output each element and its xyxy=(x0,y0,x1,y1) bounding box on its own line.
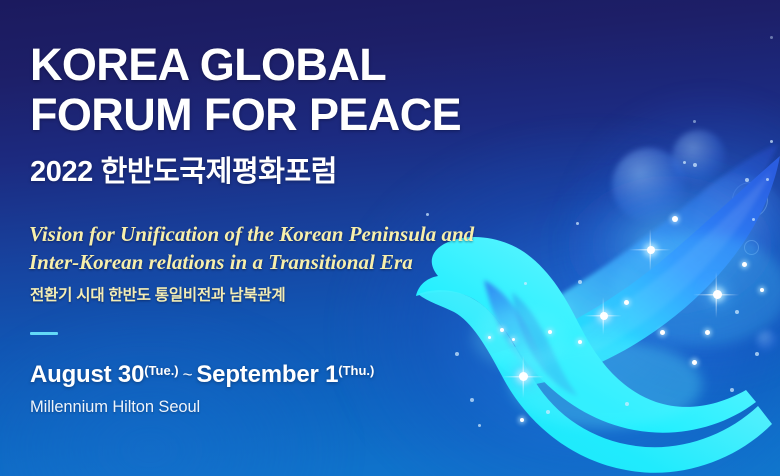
event-date: August 30(Tue.)~September 1(Thu.) xyxy=(30,361,374,389)
subtitle-english: Vision for Unification of the Korean Pen… xyxy=(29,221,589,277)
page-title: KOREA GLOBAL FORUM FOR PEACE xyxy=(30,40,650,141)
accent-divider xyxy=(30,332,58,335)
page-title-korean: 2022 한반도국제평화포럼 xyxy=(30,148,337,190)
poster-canvas: KOREA GLOBAL FORUM FOR PEACE 2022 한반도국제평… xyxy=(0,0,780,476)
event-date-start: August 30 xyxy=(30,361,144,388)
subtitle-korean: 전환기 시대 한반도 통일비전과 남북관계 xyxy=(30,283,285,305)
event-date-end-weekday: (Thu.) xyxy=(338,363,374,378)
event-date-start-weekday: (Tue.) xyxy=(144,363,178,378)
date-range-separator: ~ xyxy=(179,365,197,384)
text-content: KOREA GLOBAL FORUM FOR PEACE 2022 한반도국제평… xyxy=(0,0,780,476)
event-date-end: September 1 xyxy=(196,361,338,388)
event-venue: Millennium Hilton Seoul xyxy=(30,398,200,417)
